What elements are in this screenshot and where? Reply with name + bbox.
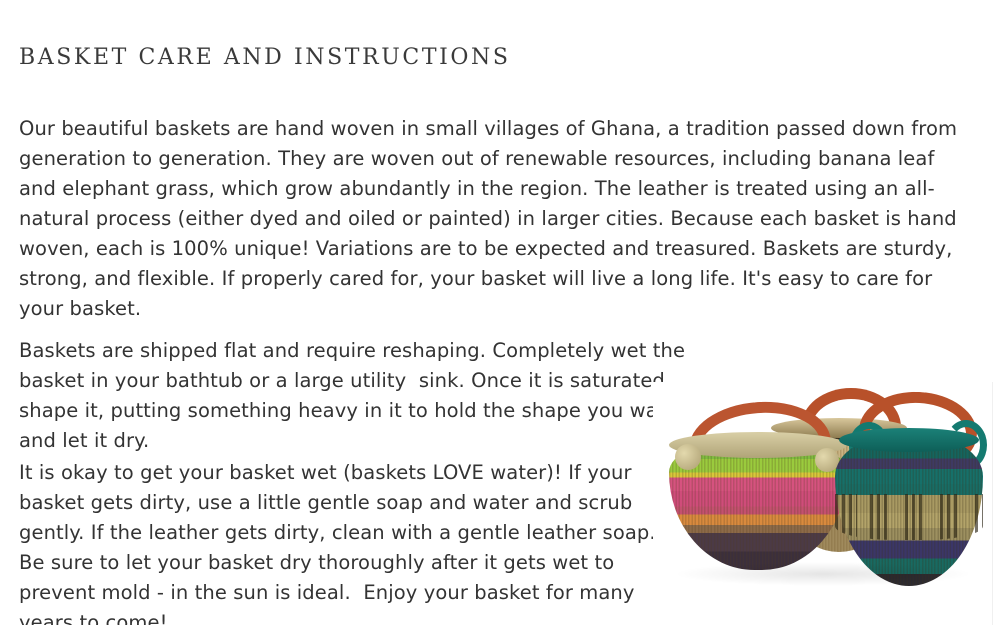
basket-knot-left-side bbox=[675, 444, 701, 470]
baskets-photo bbox=[653, 382, 993, 625]
page-title: BASKET CARE AND INSTRUCTIONS bbox=[19, 45, 511, 71]
photo-right-edge-divider bbox=[992, 382, 993, 625]
paragraph-washing: It is okay to get your basket wet (baske… bbox=[19, 458, 679, 625]
basket-care-document: BASKET CARE AND INSTRUCTIONS Our beautif… bbox=[0, 0, 1000, 625]
basket-dash-pattern-right bbox=[835, 494, 983, 540]
paragraph-reshaping: Baskets are shipped flat and require res… bbox=[19, 336, 719, 456]
basket-shadow bbox=[673, 562, 973, 586]
paragraph-intro: Our beautiful baskets are hand woven in … bbox=[19, 114, 977, 324]
basket-rim-right bbox=[839, 428, 979, 452]
